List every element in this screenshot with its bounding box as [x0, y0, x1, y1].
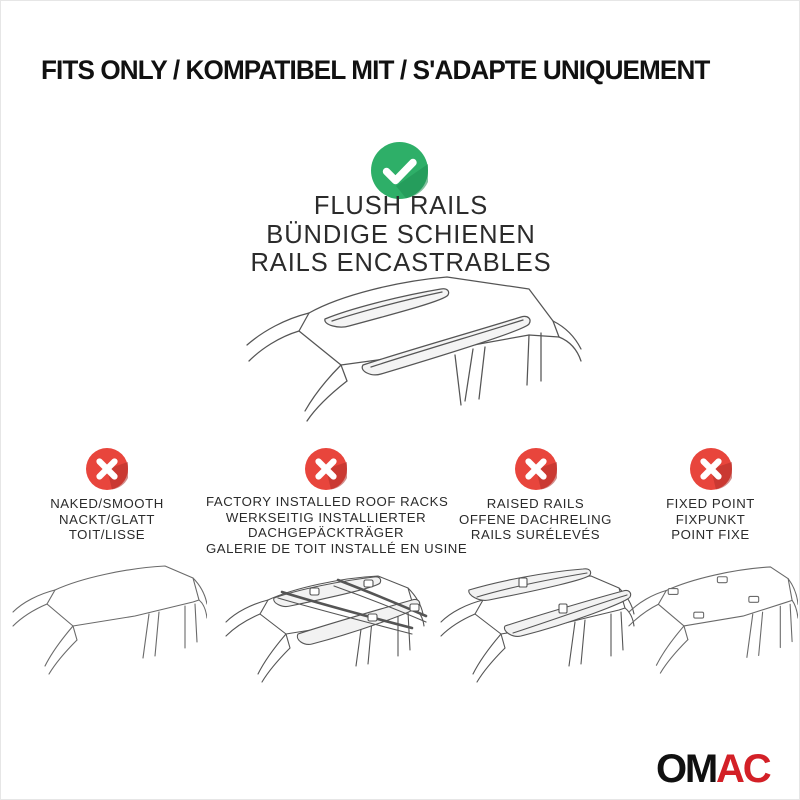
fitment-option-factory-racks: FACTORY INSTALLED ROOF RACKS WERKSEITIG …	[206, 448, 446, 698]
option-label-line-3: POINT FIXE	[623, 527, 798, 543]
fitment-infographic: FITS ONLY / KOMPATIBEL MIT / S'ADAPTE UN…	[0, 0, 800, 800]
cross-circle-icon	[690, 448, 732, 490]
option-label-line-1: NAKED/SMOOTH	[7, 496, 207, 512]
fitment-option-fixed-point: FIXED POINT FIXPUNKT POINT FIXE	[623, 448, 798, 698]
cross-circle-icon	[305, 448, 347, 490]
car-roof-raised-rails-illustration	[433, 556, 638, 686]
option-label-line-2: OFFENE DACHRELING	[433, 512, 638, 528]
fitment-option-raised-rails: RAISED RAILS OFFENE DACHRELING RAILS SUR…	[433, 448, 638, 698]
car-roof-flush-rails-illustration	[229, 269, 585, 429]
option-label-line-3: DACHGEPÄCKTRÄGER	[206, 525, 446, 541]
option-label-line-1: FACTORY INSTALLED ROOF RACKS	[206, 494, 446, 510]
option-label-line-3: TOIT/LISSE	[7, 527, 207, 543]
option-label-factory-racks: FACTORY INSTALLED ROOF RACKS WERKSEITIG …	[206, 494, 446, 556]
car-roof-factory-racks-illustration	[206, 558, 446, 688]
car-roof-fixed-point-illustration	[623, 556, 798, 686]
option-label-raised-rails: RAISED RAILS OFFENE DACHRELING RAILS SUR…	[433, 496, 638, 543]
car-roof-naked-smooth-illustration	[7, 556, 207, 686]
fitment-option-naked-smooth: NAKED/SMOOTH NACKT/GLATT TOIT/LISSE	[7, 448, 207, 698]
omac-logo: OMAC	[656, 749, 769, 789]
option-label-line-4: GALERIE DE TOIT INSTALLÉ EN USINE	[206, 541, 446, 557]
option-label-line-2: NACKT/GLATT	[7, 512, 207, 528]
compatible-label: FLUSH RAILS BÜNDIGE SCHIENEN RAILS ENCAS…	[1, 192, 800, 278]
option-label-line-2: WERKSEITIG INSTALLIERTER	[206, 510, 446, 526]
option-label-fixed-point: FIXED POINT FIXPUNKT POINT FIXE	[623, 496, 798, 543]
compatible-label-line-1: FLUSH RAILS	[1, 192, 800, 221]
option-label-line-3: RAILS SURÉLEVÉS	[433, 527, 638, 543]
check-circle-icon	[371, 142, 428, 199]
compatible-label-line-2: BÜNDIGE SCHIENEN	[1, 221, 800, 250]
cross-circle-icon	[515, 448, 557, 490]
option-label-line-1: RAISED RAILS	[433, 496, 638, 512]
logo-text-dark: OM	[656, 747, 716, 791]
option-label-line-1: FIXED POINT	[623, 496, 798, 512]
page-title: FITS ONLY / KOMPATIBEL MIT / S'ADAPTE UN…	[41, 55, 760, 86]
option-label-naked-smooth: NAKED/SMOOTH NACKT/GLATT TOIT/LISSE	[7, 496, 207, 543]
cross-circle-icon	[86, 448, 128, 490]
logo-text-accent: AC	[716, 747, 769, 791]
option-label-line-2: FIXPUNKT	[623, 512, 798, 528]
